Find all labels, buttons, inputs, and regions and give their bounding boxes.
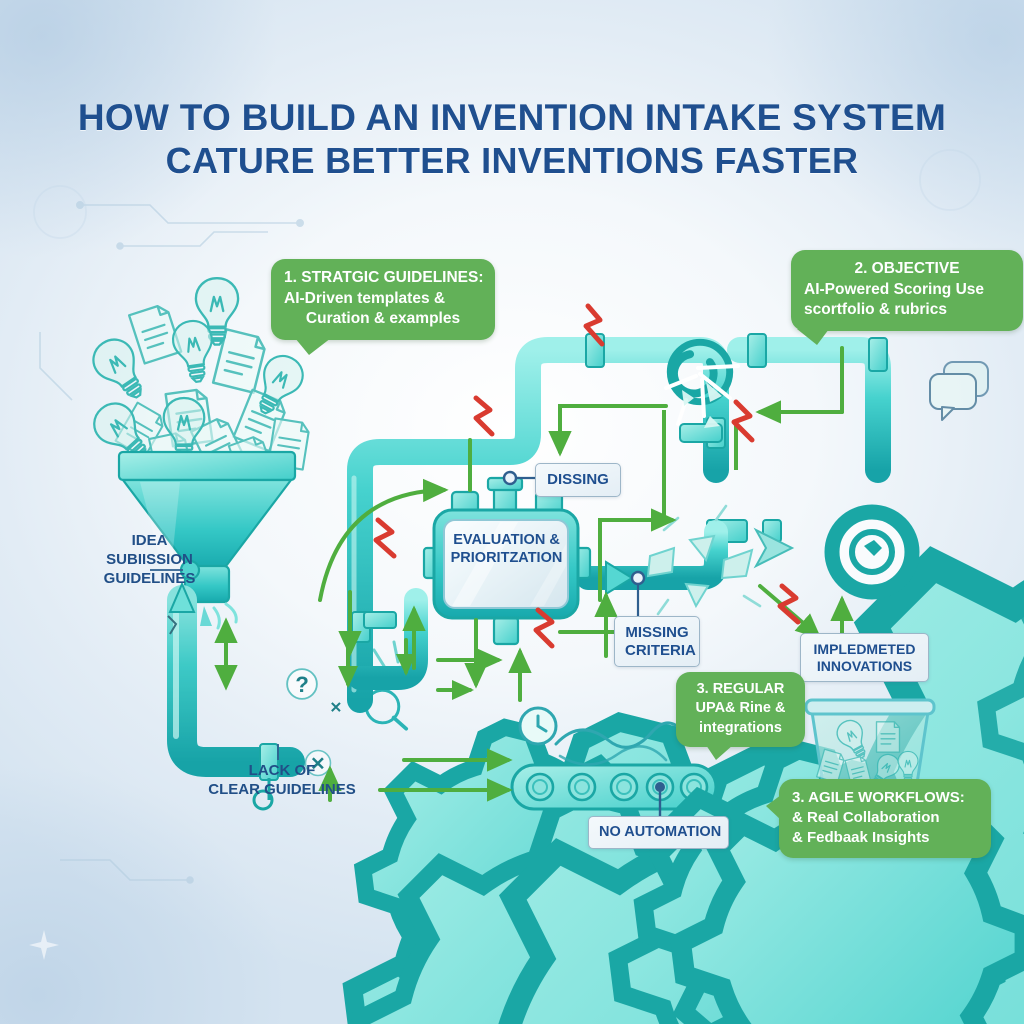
basket-icon [806, 700, 934, 791]
label-lack-line-2: CLEAR GUIDELINES [196, 781, 368, 800]
label-dissing[interactable]: DISSING [535, 463, 621, 497]
label-no-automation-line-1: NO AUTOMATION [599, 824, 718, 841]
callout-agile-workflows[interactable]: 3. AGILE WORKFLOWS: & Real Collaboration… [779, 779, 991, 858]
title-line-2: CATURE BETTER INVENTIONS FASTER [0, 140, 1024, 182]
callout-4-line-3: & Fedbaak Insights [792, 828, 978, 848]
label-implemented-line-2: INNOVATIONS [811, 658, 918, 675]
label-lack-of-clear-guidelines: LACK OF CLEAR GUIDELINES [196, 762, 368, 800]
infographic-canvas: HOW TO BUILD AN INVENTION INTAKE SYSTEM … [0, 0, 1024, 1024]
label-lack-line-1: LACK OF [196, 762, 368, 781]
label-missing-line-1: MISSING [625, 624, 689, 642]
callout-1-line-1: 1. STRATGIC GUIDELINES: [284, 268, 482, 289]
label-idea-line-3: GUIDELINES [62, 570, 237, 589]
callout-objective-scoring[interactable]: 2. OBJECTIVE AI-Powered Scoring Use scor… [791, 250, 1023, 331]
title-line-1: HOW TO BUILD AN INVENTION INTAKE SYSTEM [0, 96, 1024, 140]
callout-4-tail [766, 795, 781, 820]
svg-text:✕: ✕ [330, 699, 343, 716]
callout-1-line-2: AI-Driven templates & [284, 289, 482, 310]
callout-3-line-3: integrations [685, 719, 796, 738]
label-idea-line-1: IDEA [62, 532, 237, 551]
clock-icon [520, 708, 556, 744]
machine-label-line-2: PRIORITZATION [437, 550, 576, 568]
callout-strategic-guidelines[interactable]: 1. STRATGIC GUIDELINES: AI-Driven templa… [271, 259, 495, 340]
callout-2-line-1: 2. OBJECTIVE [804, 259, 1010, 280]
callout-3-tail [706, 745, 733, 760]
callout-3-line-2: UPA& Rine & [685, 699, 796, 718]
callout-3-line-1: 3. REGULAR [685, 680, 796, 699]
label-missing-criteria[interactable]: MISSING CRITERIA [614, 616, 700, 667]
page-title: HOW TO BUILD AN INVENTION INTAKE SYSTEM … [0, 96, 1024, 182]
callout-2-line-3: scortfolio & rubrics [804, 300, 1010, 321]
svg-text:?: ? [295, 672, 309, 697]
label-dissing-line-1: DISSING [546, 471, 610, 489]
callout-1-line-3: Curation & examples [284, 309, 482, 330]
callout-4-line-2: & Real Collaboration [792, 808, 978, 828]
callout-regular-updates[interactable]: 3. REGULAR UPA& Rine & integrations [676, 672, 805, 747]
label-implemented-line-1: IMPLEDMETED [811, 641, 918, 658]
sparkle-icon-small [29, 930, 59, 960]
label-idea-submission-guidelines: IDEA SUBIISSION GUIDELINES [62, 532, 237, 589]
callout-1-tail [295, 338, 331, 355]
label-missing-line-2: CRITERIA [625, 642, 689, 660]
label-idea-line-2: SUBIISSION [62, 551, 237, 570]
callout-4-line-1: 3. AGILE WORKFLOWS: [792, 788, 978, 808]
machine-label-line-1: EVALUATION & [437, 532, 576, 550]
label-evaluation-prioritization: EVALUATION & PRIORITZATION [437, 532, 576, 567]
callout-2-line-2: AI-Powered Scoring Use [804, 280, 1010, 301]
speech-bubbles-icon [930, 362, 988, 420]
label-no-automation[interactable]: NO AUTOMATION [588, 816, 729, 849]
label-implemented-innovations[interactable]: IMPLEDMETED INNOVATIONS [800, 633, 929, 682]
callout-2-tail [797, 329, 829, 345]
